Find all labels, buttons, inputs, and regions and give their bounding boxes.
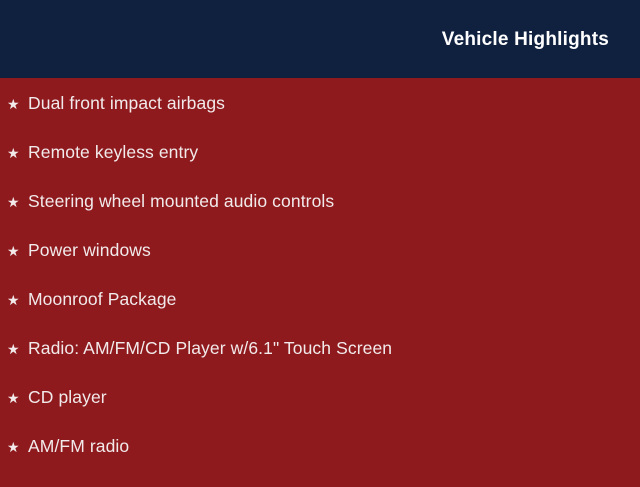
star-bullet-icon: ★ (7, 244, 28, 258)
list-item-label: Steering wheel mounted audio controls (28, 193, 334, 211)
star-bullet-icon: ★ (7, 97, 28, 111)
slide-body: ★ Dual front impact airbags ★ Remote key… (0, 78, 640, 480)
list-item: ★ CD player (0, 389, 640, 438)
list-item-label: Radio: AM/FM/CD Player w/6.1" Touch Scre… (28, 340, 392, 358)
vehicle-highlights-slide: Vehicle Highlights ★ Dual front impact a… (0, 0, 640, 480)
list-item-label: Moonroof Package (28, 291, 177, 309)
list-item: ★ Radio: AM/FM/CD Player w/6.1" Touch Sc… (0, 340, 640, 389)
star-bullet-icon: ★ (7, 440, 28, 454)
star-bullet-icon: ★ (7, 293, 28, 307)
slide-header: Vehicle Highlights (0, 0, 640, 78)
star-bullet-icon: ★ (7, 391, 28, 405)
list-item-label: Remote keyless entry (28, 144, 198, 162)
list-item-label: AM/FM radio (28, 438, 129, 456)
list-item-label: Dual front impact airbags (28, 95, 225, 113)
list-item-label: Power windows (28, 242, 151, 260)
list-item-label: CD player (28, 389, 107, 407)
list-item: ★ Dual front impact airbags (0, 95, 640, 144)
star-bullet-icon: ★ (7, 342, 28, 356)
list-item: ★ Moonroof Package (0, 291, 640, 340)
vehicle-highlights-list: ★ Dual front impact airbags ★ Remote key… (0, 95, 640, 487)
star-bullet-icon: ★ (7, 195, 28, 209)
list-item: ★ Steering wheel mounted audio controls (0, 193, 640, 242)
star-bullet-icon: ★ (7, 146, 28, 160)
page-title: Vehicle Highlights (442, 30, 609, 49)
list-item: ★ Remote keyless entry (0, 144, 640, 193)
list-item: ★ Power windows (0, 242, 640, 291)
